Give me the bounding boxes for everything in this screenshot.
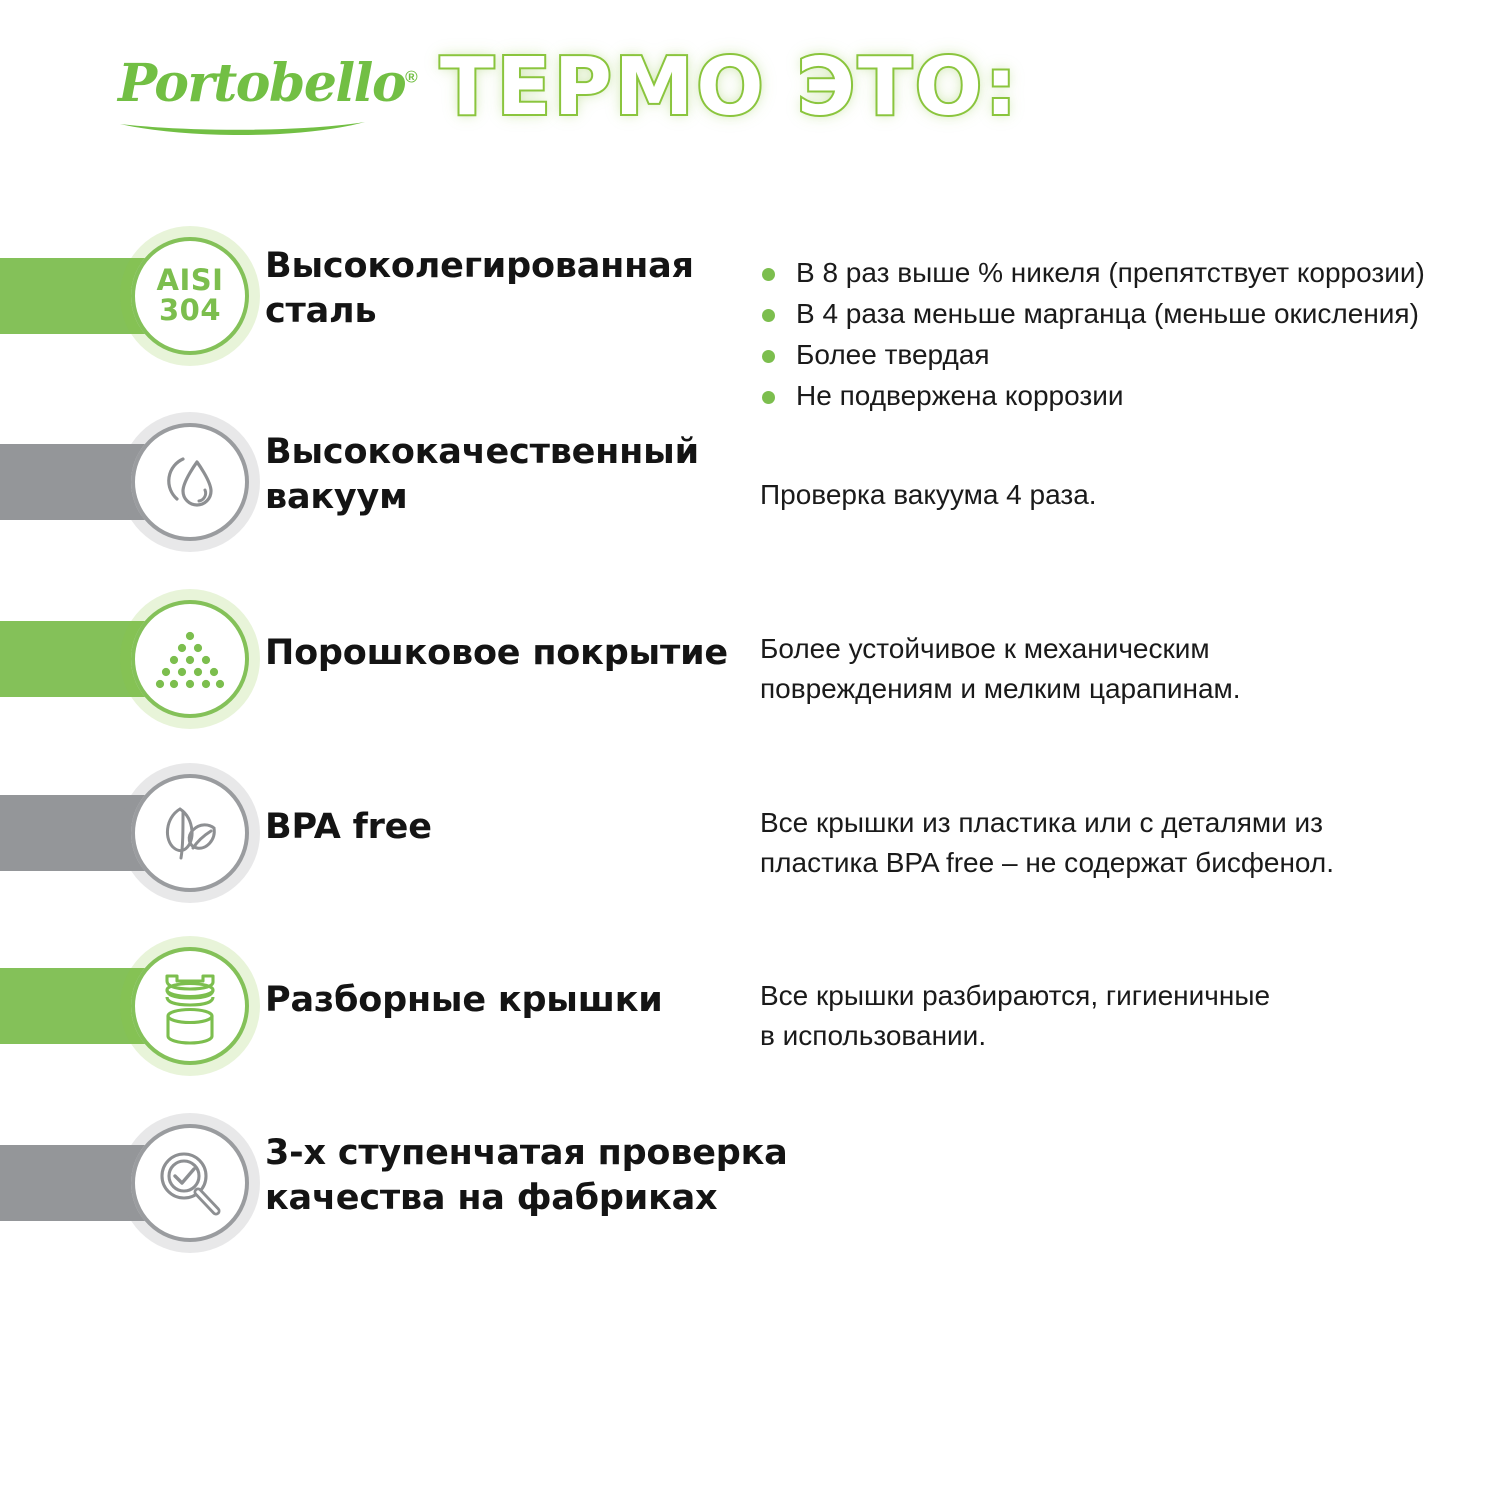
leaves-icon <box>131 774 249 892</box>
badge-glyph <box>131 947 249 1065</box>
powder-dots-icon <box>131 600 249 718</box>
feature-title: Высоколегированная сталь <box>265 244 694 334</box>
feature-title: BPA free <box>265 805 432 850</box>
badge-glyph <box>131 774 249 892</box>
drop-glyph <box>153 445 227 519</box>
badge-glyph <box>131 600 249 718</box>
detachable-lid-icon <box>131 947 249 1065</box>
feature-description: Все крышки разбираются, гигиеничные в ис… <box>760 976 1270 1056</box>
badge-glyph: AISI 304 <box>131 237 249 355</box>
feature-description: Все крышки из пластика или с деталями из… <box>760 803 1334 883</box>
badge-glyph <box>131 1124 249 1242</box>
water-drop-icon <box>131 423 249 541</box>
list-item: Более твердая <box>760 334 1425 375</box>
feature-title: Разборные крышки <box>265 978 663 1023</box>
lid-glyph <box>153 966 227 1046</box>
list-item: В 8 раз выше % никеля (препятствует корр… <box>760 252 1425 293</box>
feature-description: Проверка вакуума 4 раза. <box>760 475 1097 515</box>
powder-glyph <box>153 626 227 692</box>
list-item: В 4 раза меньше марганца (меньше окислен… <box>760 293 1425 334</box>
aisi-label: AISI 304 <box>157 266 224 325</box>
feature-title: Высококачественный вакуум <box>265 430 699 520</box>
list-item: Не подвержена коррозии <box>760 375 1425 416</box>
magnifier-glyph <box>152 1145 228 1221</box>
feature-title: Порошковое покрытие <box>265 631 728 676</box>
badge-glyph <box>131 423 249 541</box>
feature-title: 3-х ступенчатая проверка качества на фаб… <box>265 1131 788 1221</box>
feature-bullet-list: В 8 раз выше % никеля (препятствует корр… <box>760 252 1425 417</box>
magnifier-check-icon <box>131 1124 249 1242</box>
feature-list: AISI 304 Высоколегированная сталь В 8 ра… <box>0 0 1500 1500</box>
aisi-304-badge-icon: AISI 304 <box>131 237 249 355</box>
feature-description: Более устойчивое к механическим поврежде… <box>760 629 1241 709</box>
leaves-glyph <box>153 796 227 870</box>
